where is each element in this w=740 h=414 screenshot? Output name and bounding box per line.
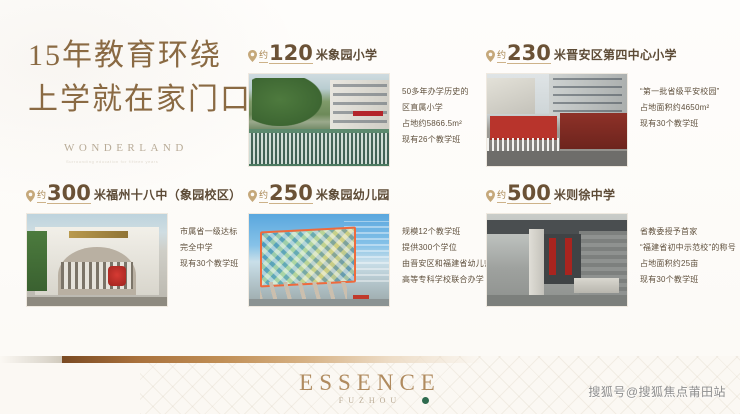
card-5-distance: 500 (507, 183, 551, 204)
card-1-distance: 120 (269, 43, 313, 64)
location-pin-icon (486, 50, 495, 62)
school-courtyard-photo (248, 73, 390, 167)
card-4-body: 规模12个教学班 提供300个学位 由晋安区和福建省幼儿师范 高等专科学校联合办… (248, 213, 500, 307)
card-1-line-2: 区直属小学 (402, 103, 469, 112)
middle-school-photo (486, 213, 628, 307)
card-5-header: 约 500 米则徐中学 (486, 184, 736, 204)
card-2-header: 约 230 米晋安区第四中心小学 (486, 44, 720, 64)
card-3-approx: 约 (37, 188, 46, 203)
card-4-distance: 250 (269, 183, 313, 204)
card-1-line-3: 占地约5866.5m² (402, 119, 469, 128)
card-2-description: “第一批省级平安校园” 占地面积约4650m² 现有30个教学班 (640, 73, 720, 167)
card-5-line-3: 占地面积约25亩 (640, 259, 736, 268)
card-1-line-4: 现有26个教学班 (402, 135, 469, 144)
card-4-title: 米象园幼儿园 (316, 186, 390, 203)
card-2-line-2: 占地面积约4650m² (640, 103, 720, 112)
card-3-line-3: 现有30个教学班 (180, 259, 239, 268)
card-2-line-3: 现有30个教学班 (640, 119, 720, 128)
footer-bar-left-fade (0, 356, 64, 363)
card-5-line-4: 现有30个教学班 (640, 275, 736, 284)
card-3-line-2: 完全中学 (180, 243, 239, 252)
card-5-line-2: “福建省初中示范校”的称号 (640, 243, 736, 252)
footer-bronze-bar (62, 356, 482, 363)
location-pin-icon (248, 190, 257, 202)
location-pin-icon (486, 190, 495, 202)
school-card-1[interactable]: 约 120 米象园小学 50多年办学历史的 区直属小学 占地约5866.5m² … (248, 44, 469, 167)
school-card-4[interactable]: 约 250 米象园幼儿园 规模12个教学班 提供300个学位 由晋安区和福建省幼… (248, 184, 500, 307)
card-3-header: 约 300 米福州十八中（象园校区） (26, 184, 241, 204)
card-5-description: 省教委授予首家 “福建省初中示范校”的称号 占地面积约25亩 现有30个教学班 (640, 213, 736, 307)
footer: ESSENCE FUZHOU 搜狐号@搜狐焦点莆田站 (0, 356, 740, 414)
card-3-description: 市属省一级达标 完全中学 现有30个教学班 (180, 213, 239, 307)
watermark-text: 搜狐号@搜狐焦点莆田站 (588, 383, 726, 400)
school-card-3[interactable]: 约 300 米福州十八中（象园校区） 市属省一级达标 完全中学 现有30个教学班 (26, 184, 241, 307)
card-5-line-1: 省教委授予首家 (640, 227, 736, 236)
card-2-body: “第一批省级平安校园” 占地面积约4650m² 现有30个教学班 (486, 73, 720, 167)
school-gate-photo (486, 73, 628, 167)
card-4-approx: 约 (259, 188, 268, 203)
card-5-approx: 约 (497, 188, 506, 203)
brand-accent-dot (422, 397, 429, 404)
card-2-line-1: “第一批省级平安校园” (640, 87, 720, 96)
location-pin-icon (26, 190, 35, 202)
school-card-2[interactable]: 约 230 米晋安区第四中心小学 “第一批省级平安校园” 占地面积约4650m²… (486, 44, 720, 167)
arch-building-photo (26, 213, 168, 307)
card-3-line-1: 市属省一级达标 (180, 227, 239, 236)
card-5-title: 米则徐中学 (554, 186, 616, 203)
school-card-grid: 约 120 米象园小学 50多年办学历史的 区直属小学 占地约5866.5m² … (0, 0, 740, 330)
card-1-title: 米象园小学 (316, 46, 378, 63)
card-1-body: 50多年办学历史的 区直属小学 占地约5866.5m² 现有26个教学班 (248, 73, 469, 167)
card-1-header: 约 120 米象园小学 (248, 44, 469, 64)
card-1-approx: 约 (259, 48, 268, 63)
card-2-distance: 230 (507, 43, 551, 64)
brand-subtitle-text: FUZHOU (339, 396, 401, 405)
card-5-body: 省教委授予首家 “福建省初中示范校”的称号 占地面积约25亩 现有30个教学班 (486, 213, 736, 307)
card-4-header: 约 250 米象园幼儿园 (248, 184, 500, 204)
card-2-title: 米晋安区第四中心小学 (554, 46, 677, 63)
school-card-5[interactable]: 约 500 米则徐中学 省教委授予首家 “福建省初中示范校”的称号 占地面积约2… (486, 184, 736, 307)
card-2-approx: 约 (497, 48, 506, 63)
card-3-title: 米福州十八中（象园校区） (94, 186, 242, 203)
location-pin-icon (248, 50, 257, 62)
card-3-body: 市属省一级达标 完全中学 现有30个教学班 (26, 213, 241, 307)
slide-page: 15年教育环绕 上学就在家门口 WONDERLAND Surrounding e… (0, 0, 740, 414)
kindergarten-photo (248, 213, 390, 307)
card-1-line-1: 50多年办学历史的 (402, 87, 469, 96)
card-1-description: 50多年办学历史的 区直属小学 占地约5866.5m² 现有26个教学班 (402, 73, 469, 167)
card-3-distance: 300 (47, 183, 91, 204)
